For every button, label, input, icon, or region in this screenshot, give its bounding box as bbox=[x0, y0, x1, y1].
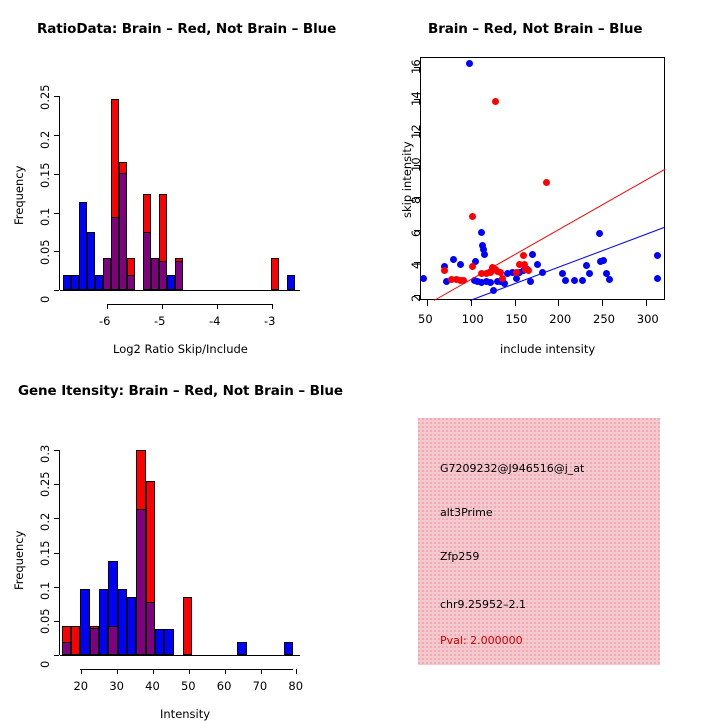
x-tick bbox=[602, 300, 603, 306]
info-gene-symbol: Zfp259 bbox=[440, 550, 479, 563]
y-tick-label: 4 bbox=[409, 262, 423, 269]
histogram-bar-overlap bbox=[103, 258, 111, 290]
x-tick bbox=[558, 300, 559, 306]
scatter-ylabel: skip intensity bbox=[400, 141, 414, 218]
x-tick bbox=[162, 304, 163, 309]
info-pval: Pval: 2.000000 bbox=[440, 634, 523, 647]
x-tick-label: -3 bbox=[264, 314, 275, 328]
histogram-bar-overlap bbox=[62, 642, 71, 655]
x-tick-label: -5 bbox=[154, 314, 165, 328]
histogram-bar bbox=[95, 275, 103, 290]
histogram-bar-overlap bbox=[151, 258, 159, 290]
histogram-bar bbox=[284, 642, 293, 655]
y-tick-label: 0.05 bbox=[38, 239, 52, 265]
y-tick bbox=[54, 290, 59, 291]
histogram-bar bbox=[159, 194, 167, 261]
scatter-point bbox=[534, 261, 541, 268]
histogram-bar bbox=[111, 99, 119, 218]
x-tick bbox=[117, 669, 118, 674]
y-tick bbox=[54, 174, 59, 175]
y-tick-label: 0 bbox=[38, 661, 52, 668]
y-tick-label: 0.1 bbox=[38, 208, 52, 226]
y-tick-label: 2 bbox=[409, 295, 423, 302]
y-tick bbox=[54, 553, 59, 554]
x-tick-label: 300 bbox=[637, 312, 659, 326]
scatter-point bbox=[529, 251, 536, 258]
scatter-point bbox=[583, 262, 590, 269]
y-tick bbox=[54, 96, 59, 97]
histogram-bar bbox=[127, 597, 136, 655]
histogram-bar bbox=[136, 450, 145, 510]
y-tick-label: 0.15 bbox=[38, 162, 52, 188]
scatter-title: Brain – Red, Not Brain – Blue bbox=[428, 21, 642, 37]
scatter-point bbox=[513, 269, 520, 276]
r-multiplot-figure: RatioData: Brain – Red, Not Brain – Blue… bbox=[0, 0, 720, 720]
y-tick bbox=[54, 587, 59, 588]
histogram-bar bbox=[80, 589, 89, 655]
y-tick-label: 0.05 bbox=[38, 608, 52, 634]
histogram-bar bbox=[143, 194, 151, 232]
scatter-point bbox=[478, 229, 485, 236]
histogram-bar-overlap bbox=[143, 232, 151, 290]
y-tick bbox=[54, 484, 59, 485]
x-tick bbox=[646, 300, 647, 306]
histogram-bar-overlap bbox=[159, 261, 167, 290]
histogram-bar-overlap bbox=[119, 173, 127, 290]
info-event-type: alt3Prime bbox=[440, 506, 493, 519]
y-tick-label: 0.2 bbox=[38, 513, 52, 531]
x-tick-label: 60 bbox=[217, 679, 232, 693]
histogram-bar-overlap bbox=[127, 275, 135, 290]
scatter-point bbox=[457, 261, 464, 268]
scatter-point bbox=[450, 256, 457, 263]
histogram-bar-overlap bbox=[108, 626, 117, 655]
y-tick-label: 0.1 bbox=[38, 582, 52, 600]
x-tick-label: 70 bbox=[253, 679, 268, 693]
y-tick-label: 0 bbox=[38, 296, 52, 303]
x-tick bbox=[217, 304, 218, 309]
histogram-bar-overlap bbox=[111, 217, 119, 290]
scatter-point bbox=[571, 277, 578, 284]
y-tick bbox=[54, 655, 59, 656]
x-tick bbox=[81, 669, 82, 674]
y-tick bbox=[54, 251, 59, 252]
ratio-histogram-title: RatioData: Brain – Red, Not Brain – Blue bbox=[37, 21, 336, 37]
y-tick bbox=[54, 621, 59, 622]
y-tick-label: 0.2 bbox=[38, 131, 52, 149]
x-tick bbox=[225, 669, 226, 674]
info-probe-id: G7209232@J946516@j_at bbox=[440, 462, 584, 475]
gene-histogram-y-axis bbox=[59, 450, 60, 655]
gene-histogram-title: Gene Itensity: Brain – Red, Not Brain – … bbox=[18, 383, 343, 399]
y-tick-label: 0.15 bbox=[38, 540, 52, 566]
histogram-bar bbox=[164, 629, 173, 655]
y-tick-label: 12 bbox=[409, 124, 423, 139]
gene-histogram-baseline bbox=[60, 655, 300, 656]
histogram-bar bbox=[155, 629, 164, 655]
x-tick bbox=[189, 669, 190, 674]
ratio-histogram-ylabel: Frequency bbox=[12, 166, 26, 225]
gene-histogram-ylabel: Frequency bbox=[12, 531, 26, 590]
histogram-bar bbox=[99, 589, 108, 655]
histogram-bar bbox=[118, 589, 127, 655]
scatter-point bbox=[469, 263, 476, 270]
gene-histogram-xlabel: Intensity bbox=[160, 707, 210, 721]
y-tick-label: 16 bbox=[409, 59, 423, 74]
ratio-histogram-y-axis bbox=[59, 96, 60, 290]
y-tick bbox=[54, 518, 59, 519]
panel-annotation-info: G7209232@J946516@j_at alt3Prime Zfp259 c… bbox=[418, 418, 660, 665]
x-tick-label: 30 bbox=[109, 679, 124, 693]
histogram-bar bbox=[71, 275, 79, 290]
x-tick bbox=[261, 669, 262, 674]
scatter-xlabel: include intensity bbox=[500, 342, 595, 356]
histogram-bar bbox=[62, 626, 71, 643]
histogram-bar bbox=[63, 275, 71, 290]
scatter-point bbox=[492, 98, 499, 105]
ratio-histogram-xlabel: Log2 Ratio Skip/Include bbox=[113, 342, 248, 356]
y-tick-label: 10 bbox=[409, 157, 423, 172]
y-tick-label: 0.3 bbox=[38, 445, 52, 463]
x-tick-label: 100 bbox=[462, 312, 484, 326]
histogram-bar bbox=[79, 202, 87, 290]
x-tick bbox=[153, 669, 154, 674]
histogram-bar bbox=[271, 258, 279, 290]
histogram-bar bbox=[167, 275, 175, 290]
histogram-bar-overlap bbox=[90, 628, 99, 655]
histogram-bar bbox=[127, 258, 135, 276]
histogram-bar bbox=[108, 561, 117, 626]
x-tick-label: 150 bbox=[506, 312, 528, 326]
histogram-bar bbox=[183, 597, 192, 655]
y-tick-label: 0.25 bbox=[38, 471, 52, 497]
histogram-bar bbox=[71, 626, 80, 655]
histogram-bar-overlap bbox=[146, 602, 155, 655]
x-tick-label: 80 bbox=[288, 679, 303, 693]
y-tick bbox=[54, 450, 59, 451]
x-tick-label: 250 bbox=[593, 312, 615, 326]
info-locus: chr9.25952–2.1 bbox=[440, 598, 526, 611]
y-tick-label: 14 bbox=[409, 92, 423, 107]
scatter-point bbox=[606, 276, 613, 283]
x-tick-label: 40 bbox=[145, 679, 160, 693]
scatter-point bbox=[562, 277, 569, 284]
histogram-bar-overlap bbox=[136, 509, 145, 655]
histogram-bar bbox=[146, 481, 155, 604]
x-tick-label: 50 bbox=[418, 312, 433, 326]
x-tick bbox=[296, 669, 297, 674]
y-tick bbox=[54, 213, 59, 214]
x-tick bbox=[427, 300, 428, 306]
y-tick bbox=[54, 135, 59, 136]
histogram-bar bbox=[287, 275, 295, 290]
scatter-point bbox=[487, 279, 494, 286]
scatter-point bbox=[654, 275, 661, 282]
x-tick-label: 20 bbox=[73, 679, 88, 693]
histogram-bar-overlap bbox=[175, 261, 183, 290]
x-tick bbox=[515, 300, 516, 306]
histogram-bar bbox=[87, 232, 95, 290]
y-tick-label: 6 bbox=[409, 230, 423, 237]
x-tick-label: -4 bbox=[209, 314, 220, 328]
x-tick-label: -6 bbox=[99, 314, 110, 328]
ratio-histogram-x-axis bbox=[107, 304, 273, 305]
x-tick bbox=[471, 300, 472, 306]
y-tick-label: 0.25 bbox=[38, 84, 52, 110]
x-tick-label: 50 bbox=[181, 679, 196, 693]
y-tick-label: 8 bbox=[409, 197, 423, 204]
x-tick bbox=[107, 304, 108, 309]
x-tick-label: 200 bbox=[549, 312, 571, 326]
histogram-bar bbox=[237, 642, 246, 655]
x-tick bbox=[272, 304, 273, 309]
